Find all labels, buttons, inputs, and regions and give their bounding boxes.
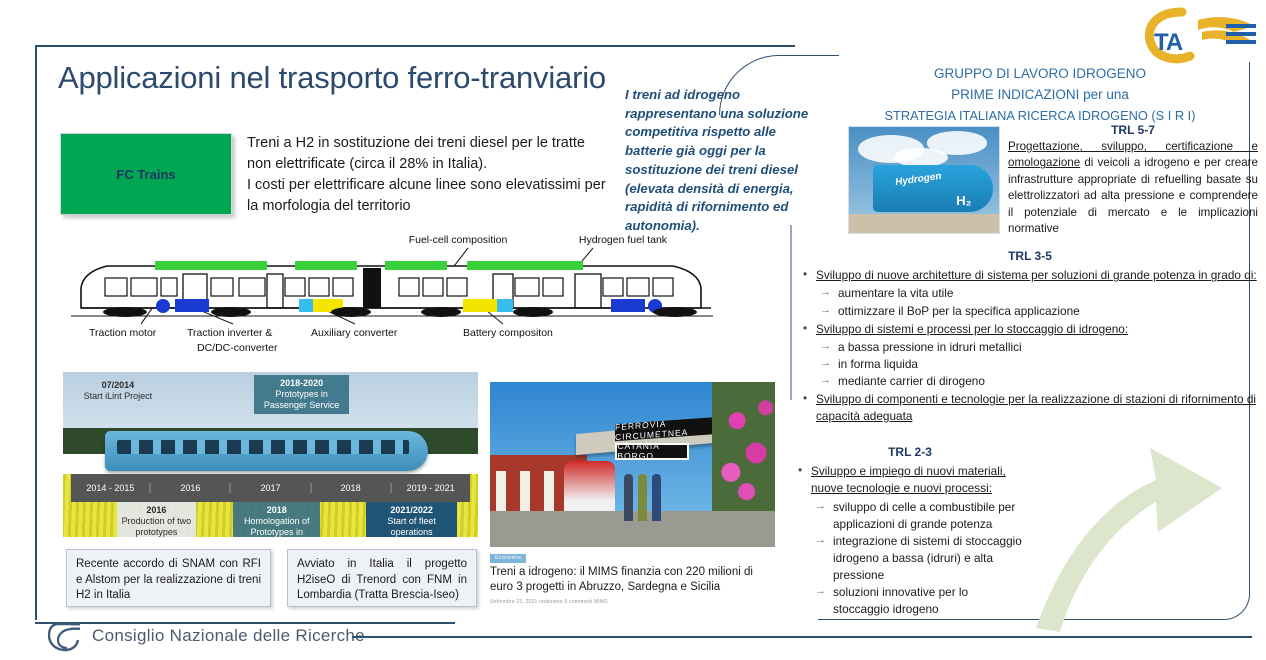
- callout-text: Start of fleet operations: [370, 516, 453, 537]
- sub-bullets: a bassa pressione in idruri metallici in…: [816, 339, 1260, 390]
- callout-year: 2021/2022: [370, 505, 453, 516]
- fc-trains-box: FC Trains: [60, 133, 232, 215]
- callout-text: Homologation of Prototypes in Germany: [237, 516, 316, 537]
- timeline-segment: 2014 - 2015: [71, 483, 151, 493]
- bullet-text: Sviluppo e impiego di nuovi materiali, n…: [811, 464, 1006, 495]
- timeline-callout: 07/2014 Start iLint Project: [80, 377, 157, 405]
- timeline-callout: 2018-2020 Prototypes in Passenger Servic…: [254, 375, 349, 413]
- callout-year: 2016: [121, 505, 192, 516]
- tram-hydrogen-text: Hydrogen: [894, 170, 942, 187]
- train-schematic-diagram: Fuel-cell composition Hydrogen fuel tank…: [63, 228, 718, 360]
- news-category-tag: Economia: [490, 554, 526, 563]
- trl-3-5-block: TRL 3-5 Sviluppo di nuove architetture d…: [800, 248, 1260, 425]
- trl-5-7-body: Progettazione, sviluppo, certificazione …: [1008, 139, 1258, 238]
- photo-tram: Hydrogen H₂: [873, 165, 993, 212]
- timeline-bar: 2014 - 2015 2016 2017 2018 2019 - 2021: [71, 474, 469, 502]
- callout-year: 07/2014: [84, 380, 153, 391]
- timeline-callout: 2016 Production of two prototypes: [117, 502, 196, 537]
- intro-line-3: I costi per elettrificare alcune linee s…: [247, 175, 617, 196]
- callout-text: Prototypes in Passenger Service: [258, 389, 345, 411]
- cnr-logo-icon: [48, 620, 82, 654]
- timeline-segment: 2019 - 2021: [392, 483, 470, 493]
- trl-2-3-title: TRL 2-3: [795, 444, 1025, 461]
- trl-5-7-title: TRL 5-7: [1008, 122, 1258, 139]
- curved-arrow-icon: [1030, 440, 1245, 635]
- timeline-callout: 2021/2022 Start of fleet operations: [366, 502, 457, 537]
- sub-bullets: sviluppo di celle a combustibile per app…: [811, 499, 1025, 619]
- italic-highlight-text: I treni ad idrogeno rappresentano una so…: [625, 86, 810, 236]
- callout-year: 2018-2020: [258, 378, 345, 389]
- timeline-segment: 2018: [312, 483, 392, 493]
- page-title: Applicazioni nel trasporto ferro-tranvia…: [58, 60, 606, 96]
- timeline-segment: 2017: [231, 483, 311, 493]
- ilint-timeline-image: 2014 - 2015 2016 2017 2018 2019 - 2021 0…: [63, 372, 478, 537]
- news-caption: Economia Treni a idrogeno: il MIMS finan…: [490, 549, 775, 606]
- sub-bullet: integrazione di sistemi di stoccaggio id…: [811, 533, 1025, 584]
- callout-text: Start iLint Project: [84, 391, 153, 402]
- callout-text: Production of two prototypes: [121, 516, 192, 537]
- intro-line-1: Treni a H2 in sostituzione dei treni die…: [247, 133, 617, 154]
- tram-h2-badge: H₂: [956, 193, 971, 208]
- bullet-item: Sviluppo e impiego di nuovi materiali, n…: [795, 463, 1025, 618]
- catania-station-photo: FERROVIA CIRCUMETNEA CATANIA BORGO: [490, 382, 775, 547]
- heading-line-2: PRIME INDICAZIONI per una: [830, 85, 1250, 106]
- intro-line-2: non elettrificate (circa il 28% in Itali…: [247, 154, 617, 175]
- note-h2iseo: Avviato in Italia il progetto H2iseO di …: [287, 549, 477, 607]
- svg-text:Traction motor: Traction motor: [89, 327, 157, 339]
- timeline-segment: 2016: [151, 483, 231, 493]
- timeline-train: [105, 431, 429, 471]
- hydrogen-tram-photo: Hydrogen H₂: [848, 126, 1000, 234]
- sub-bullet: a bassa pressione in idruri metallici: [816, 339, 1260, 356]
- sub-bullet: mediante carrier di dirogeno: [816, 373, 1260, 390]
- svg-text:Traction inverter &: Traction inverter &: [187, 327, 272, 339]
- station-passengers: [624, 474, 698, 520]
- trl-5-7-block: TRL 5-7 Progettazione, sviluppo, certifi…: [1008, 122, 1258, 238]
- trl-2-3-block: TRL 2-3 Sviluppo e impiego di nuovi mate…: [795, 444, 1025, 619]
- bullet-item: Sviluppo di componenti e tecnologie per …: [800, 391, 1260, 425]
- sub-bullet: sviluppo di celle a combustibile per app…: [811, 499, 1025, 533]
- intro-paragraph: Treni a H2 in sostituzione dei treni die…: [247, 133, 617, 217]
- heading-line-1: GRUPPO DI LAVORO IDROGENO: [830, 64, 1250, 85]
- news-meta: Settembre 23, 2021 redazione 0 commenti …: [490, 599, 775, 606]
- fc-trains-label: FC Trains: [116, 167, 175, 182]
- footer-rule: [352, 636, 1252, 638]
- sub-bullet: ottimizzare il BoP per la specifica appl…: [816, 303, 1260, 320]
- atae-logo: TA: [1138, 2, 1262, 64]
- sub-bullet: in forma liquida: [816, 356, 1260, 373]
- sub-bullet: soluzioni innovative per lo stoccaggio i…: [811, 584, 1025, 618]
- svg-text:Battery compositon: Battery compositon: [463, 327, 553, 339]
- footer-organization: Consiglio Nazionale delle Ricerche: [92, 626, 365, 646]
- timeline-callout: 2018 Homologation of Prototypes in Germa…: [233, 502, 320, 537]
- trl-2-3-bullets: Sviluppo e impiego di nuovi materiali, n…: [795, 463, 1025, 618]
- station-sign-bottom: CATANIA BORGO: [615, 443, 689, 460]
- sub-bullet: aumentare la vita utile: [816, 285, 1260, 302]
- vertical-divider: [790, 225, 792, 400]
- bullet-text: Sviluppo di componenti e tecnologie per …: [816, 392, 1256, 423]
- svg-text:Auxiliary converter: Auxiliary converter: [311, 327, 398, 339]
- bullet-text: Sviluppo di nuove architetture di sistem…: [816, 268, 1257, 282]
- intro-line-4: la morfologia del territorio: [247, 196, 617, 217]
- note-snam-rfi: Recente accordo di SNAM con RFI e Alstom…: [66, 549, 271, 607]
- sub-bullets: aumentare la vita utile ottimizzare il B…: [816, 285, 1260, 319]
- news-headline: Treni a idrogeno: il MIMS finanzia con 2…: [490, 565, 775, 596]
- station-bougainvillea: [712, 382, 775, 511]
- svg-text:DC/DC-converter: DC/DC-converter: [197, 342, 278, 354]
- trl-3-5-bullets: Sviluppo di nuove architetture di sistem…: [800, 267, 1260, 425]
- trl-3-5-title: TRL 3-5: [800, 248, 1260, 265]
- bullet-text: Sviluppo di sistemi e processi per lo st…: [816, 322, 1128, 336]
- bullet-item: Sviluppo di sistemi e processi per lo st…: [800, 321, 1260, 390]
- photo-ground: [849, 214, 999, 233]
- right-panel-heading: GRUPPO DI LAVORO IDROGENO PRIME INDICAZI…: [830, 64, 1250, 126]
- svg-text:Hydrogen fuel tank: Hydrogen fuel tank: [579, 234, 668, 246]
- bullet-item: Sviluppo di nuove architetture di sistem…: [800, 267, 1260, 319]
- slide-canvas: TA Applicazioni nel trasporto ferro-tran…: [0, 0, 1266, 660]
- svg-text:Fuel-cell composition: Fuel-cell composition: [409, 234, 508, 246]
- callout-year: 2018: [237, 505, 316, 516]
